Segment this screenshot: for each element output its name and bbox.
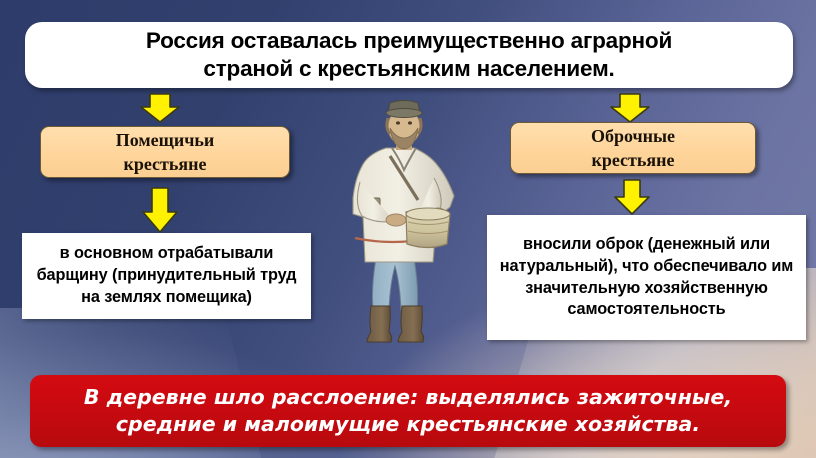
category-label-line-1: Помещичьи (116, 130, 215, 150)
category-label-line-2: крестьяне (123, 154, 206, 174)
category-label-line-2: крестьяне (591, 150, 674, 170)
slide-title-line-2: страной с крестьянским населением. (203, 56, 614, 81)
category-box-landlord-peasants[interactable]: Помещичьи крестьяне (40, 126, 290, 178)
detail-box-quitrent-peasants: вносили оброк (денежный или натуральный)… (487, 215, 806, 340)
slide-title: Россия оставалась преимущественно аграрн… (146, 27, 672, 84)
slide-canvas: Россия оставалась преимущественно аграрн… (0, 0, 816, 458)
category-label-quitrent-peasants: Оброчные крестьяне (591, 124, 675, 173)
category-box-quitrent-peasants[interactable]: Оброчные крестьяне (510, 122, 756, 174)
category-label-landlord-peasants: Помещичьи крестьяне (116, 128, 215, 177)
arrow-right-heading-to-detail (612, 178, 652, 216)
detail-text-landlord-peasants: в основном отрабатывали барщину (принуди… (29, 243, 304, 308)
peasant-illustration (330, 100, 480, 352)
detail-text-quitrent-peasants: вносили оброк (денежный или натуральный)… (494, 234, 799, 321)
arrow-left-heading-to-detail (140, 186, 180, 234)
conclusion-text: В деревне шло расслоение: выделялись заж… (52, 384, 764, 437)
arrow-title-to-left-heading (138, 92, 182, 124)
conclusion-banner: В деревне шло расслоение: выделялись заж… (30, 375, 786, 447)
category-label-line-1: Оброчные (591, 126, 675, 146)
slide-title-card: Россия оставалась преимущественно аграрн… (25, 22, 793, 88)
slide-title-line-1: Россия оставалась преимущественно аграрн… (146, 28, 672, 53)
detail-box-landlord-peasants: в основном отрабатывали барщину (принуди… (22, 233, 311, 319)
arrow-title-to-right-heading (608, 92, 652, 124)
